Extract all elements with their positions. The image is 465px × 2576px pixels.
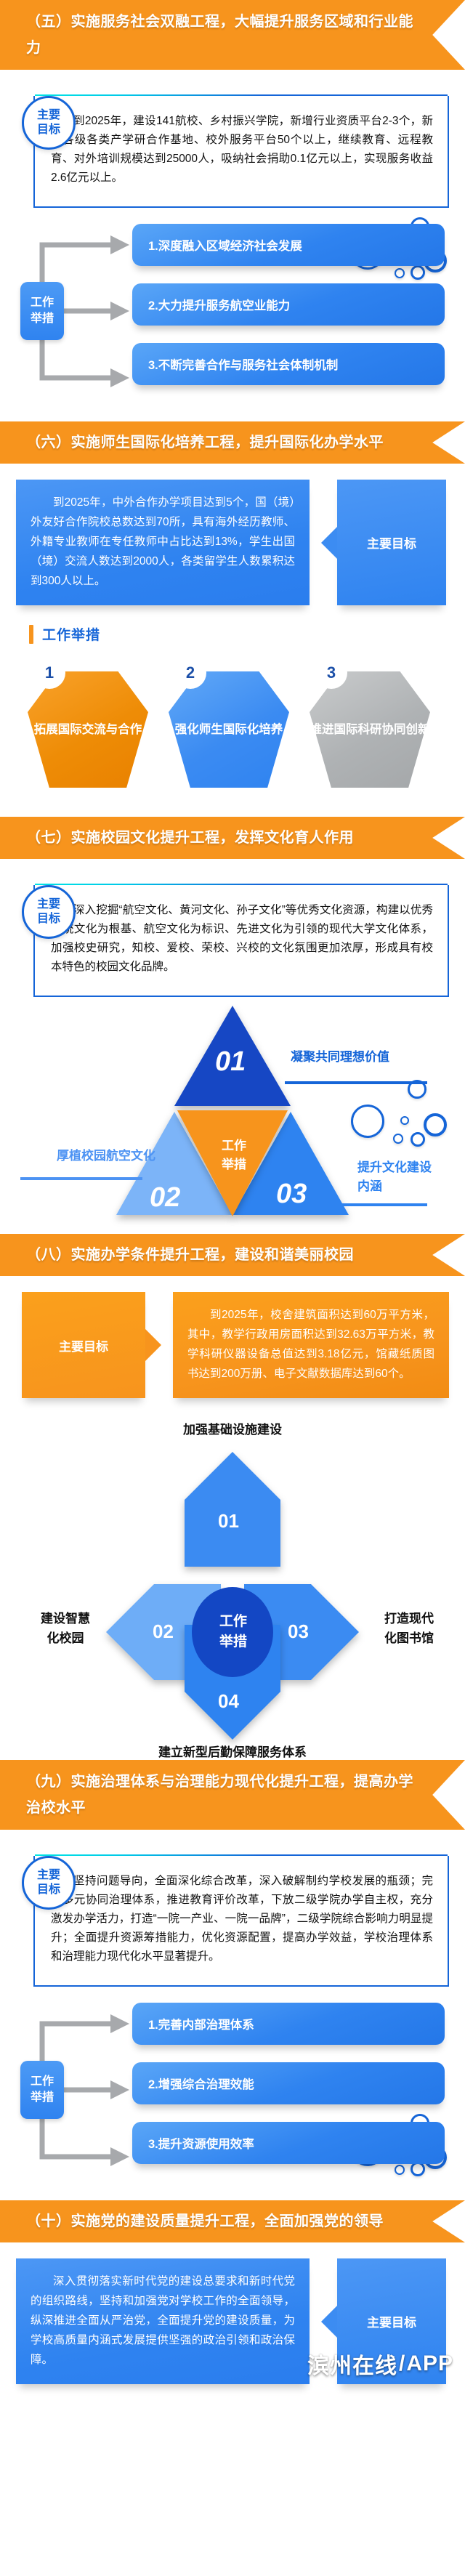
main-goal-badge-line2: 目标 [37,123,60,137]
main-goal-block-five: 主要 目标 到2025年，建设141航校、乡村振兴学院，新增行业资质平台2-3个… [16,96,449,208]
main-goal-badge-line2: 目标 [37,1883,60,1897]
measure-bar[interactable]: 3.不断完善合作与服务社会体制机制 [132,343,445,385]
work-measures-five: 工作 举措 1.深度融入区域经济社会发展 2.大力提升服务航空业能力 3.不断完… [16,221,449,403]
petal-right-label: 打造现代 化图书馆 [362,1609,456,1648]
measure-bar[interactable]: 2.增强综合治理效能 [132,2062,445,2104]
section-seven: （七）实施校园文化提升工程，发挥文化育人作用 主要 目标 深入挖掘“航空文化、黄… [0,817,465,1230]
accent-bar-icon [29,625,33,644]
main-goal-text: 到2025年，建设141航校、乡村振兴学院，新增行业资质平台2-3个，新建各级各… [51,112,433,187]
measure-bar[interactable]: 1.完善内部治理体系 [132,2003,445,2045]
work-measures-subhead-label: 工作举措 [42,624,100,644]
hexagon-item[interactable]: 2 强化师生国际化培养 [169,657,296,795]
pyramid-label-02: 厚植校园航空文化 [10,1147,155,1166]
main-goal-badge: 主要 目标 [22,885,76,939]
work-measures-nine: 工作 举措 1.完善内部治理体系 2.增强综合治理效能 3.提升资源使用效率 [16,2000,449,2181]
petal-bottom-label: 建立新型后勤保障服务体系 [0,1743,465,1762]
section-nine: （九）实施治理体系与治理能力现代化提升工程，提高办学治校水平 主要 目标 坚持问… [0,1760,465,2181]
main-goal-text: 坚持问题导向，全面深化综合改革，深入破解制约学校发展的瓶颈；完善多元协同治理体系… [51,1872,433,1966]
main-goal-text: 深入挖掘“航空文化、黄河文化、孙子文化”等优秀文化资源，构建以优秀传统文化为根基… [51,901,433,977]
watermark-app: APP [406,2351,453,2376]
main-goal-tab: 主要目标 [337,480,446,605]
section-six: （六）实施师生国际化培养工程，提升国际化办学水平 到2025年，中外合作办学项目… [0,421,465,795]
pyramid-label-03: 提升文化建设内涵 [357,1158,437,1196]
watermark-brand: 滨州在线 [307,2348,397,2380]
hexagon-label: 推进国际科研协同创新 [310,720,430,739]
hexagon-label: 拓展国际交流与合作 [34,720,142,739]
main-goal-box: 深入挖掘“航空文化、黄河文化、孙子文化”等优秀文化资源，构建以优秀传统文化为根基… [33,885,449,997]
hexagon-item[interactable]: 3 推进国际科研协同创新 [310,657,437,795]
work-measures-badge-line2: 举措 [31,311,54,327]
main-goal-badge-line1: 主要 [37,108,60,123]
hexagon-shape: 拓展国际交流与合作 [28,671,148,788]
hexagon-row-six: 1 拓展国际交流与合作 2 强化师生国际化培养 3 推进国际科研协同创新 [0,657,465,795]
work-measures-badge: 工作 举措 [20,282,64,340]
section-five: （五）实施服务社会双融工程，大幅提升服务区域和行业能力 主要 目标 到2025年… [0,0,465,403]
main-goal-badge-line1: 主要 [37,897,60,912]
work-measures-badge-line1: 工作 [31,295,54,311]
hexagon-number: 2 [174,657,206,689]
main-goal-block-six: 到2025年，中外合作办学项目达到5个，国（境）外友好合作院校总数达到70所，具… [16,480,449,605]
section-banner-seven: （七）实施校园文化提升工程，发挥文化育人作用 [0,817,465,859]
main-goal-block-nine: 主要 目标 坚持问题导向，全面深化综合改革，深入破解制约学校发展的瓶颈；完善多元… [16,1856,449,1987]
work-measures-badge-line2: 举措 [31,2090,54,2106]
work-measures-subhead-six: 工作举措 [29,624,465,644]
section-banner-six: （六）实施师生国际化培养工程，提升国际化办学水平 [0,421,465,464]
petal-diagram-eight: 加强基础设施建设 01 02 03 04 工作 举措 建设智慧 化校园 打造现代… [0,1414,465,1748]
measure-bar[interactable]: 1.深度融入区域经济社会发展 [132,224,445,266]
section-banner-eight: （八）实施办学条件提升工程，建设和谐美丽校园 [0,1234,465,1276]
petal-left-label: 建设智慧 化校园 [22,1609,109,1648]
petal-shapes [0,1414,465,1748]
main-goal-text: 到2025年，校舍建筑面积达到60万平方米，其中，教学行政用房面积达到32.63… [173,1292,449,1398]
hexagon-item[interactable]: 1 拓展国际交流与合作 [28,657,155,795]
main-goal-badge: 主要 目标 [22,96,76,150]
petal-left-line1: 建设智慧 [22,1609,109,1628]
section-banner-ten: （十）实施党的建设质量提升工程，全面加强党的领导 [0,2200,465,2242]
petal-left-line2: 化校园 [22,1628,109,1648]
petal-top-label: 加强基础设施建设 [0,1420,465,1440]
section-eight: （八）实施办学条件提升工程，建设和谐美丽校园 到2025年，校舍建筑面积达到60… [0,1234,465,1760]
hexagon-shape: 强化师生国际化培养 [169,671,289,788]
hexagon-shape: 推进国际科研协同创新 [310,671,430,788]
main-goal-text: 到2025年，中外合作办学项目达到5个，国（境）外友好合作院校总数达到70所，具… [16,480,310,605]
petal-right-line2: 化图书馆 [362,1628,456,1648]
infographic-page: （五）实施服务社会双融工程，大幅提升服务区域和行业能力 主要 目标 到2025年… [0,0,465,2384]
work-measures-badge-line1: 工作 [31,2074,54,2090]
watermark-slash: / [399,2351,405,2376]
main-goal-block-seven: 主要 目标 深入挖掘“航空文化、黄河文化、孙子文化”等优秀文化资源，构建以优秀传… [16,885,449,997]
main-goal-badge-line1: 主要 [37,1868,60,1883]
main-goal-tab: 主要目标 [22,1292,145,1398]
hexagon-label: 强化师生国际化培养 [175,720,283,739]
section-banner-nine: （九）实施治理体系与治理能力现代化提升工程，提高办学治校水平 [0,1760,465,1830]
hexagon-number: 1 [33,657,65,689]
measure-bar[interactable]: 3.提升资源使用效率 [132,2122,445,2164]
measure-bar[interactable]: 2.大力提升服务航空业能力 [132,283,445,326]
pyramid-diagram-seven: 01 02 03 工作 举措 凝聚共同理想价值 厚植校园航空文化 提升文化建设内… [0,1004,465,1230]
work-measures-badge: 工作 举措 [20,2061,64,2119]
watermark: 滨州在线 / APP [307,2348,453,2380]
petal-right-line1: 打造现代 [362,1609,456,1628]
main-goal-box: 到2025年，建设141航校、乡村振兴学院，新增行业资质平台2-3个，新建各级各… [33,96,449,208]
main-goal-badge: 主要 目标 [22,1856,76,1910]
pyramid-label-01: 凝聚共同理想价值 [291,1048,450,1067]
hexagon-number: 3 [315,657,347,689]
main-goal-text: 深入贯彻落实新时代党的建设总要求和新时代党的组织路线，坚持和加强党对学校工作的全… [16,2258,310,2384]
main-goal-box: 坚持问题导向，全面深化综合改革，深入破解制约学校发展的瓶颈；完善多元协同治理体系… [33,1856,449,1987]
main-goal-badge-line2: 目标 [37,912,60,926]
section-banner-five: （五）实施服务社会双融工程，大幅提升服务区域和行业能力 [0,0,465,70]
main-goal-block-eight: 到2025年，校舍建筑面积达到60万平方米，其中，教学行政用房面积达到32.63… [16,1292,449,1398]
